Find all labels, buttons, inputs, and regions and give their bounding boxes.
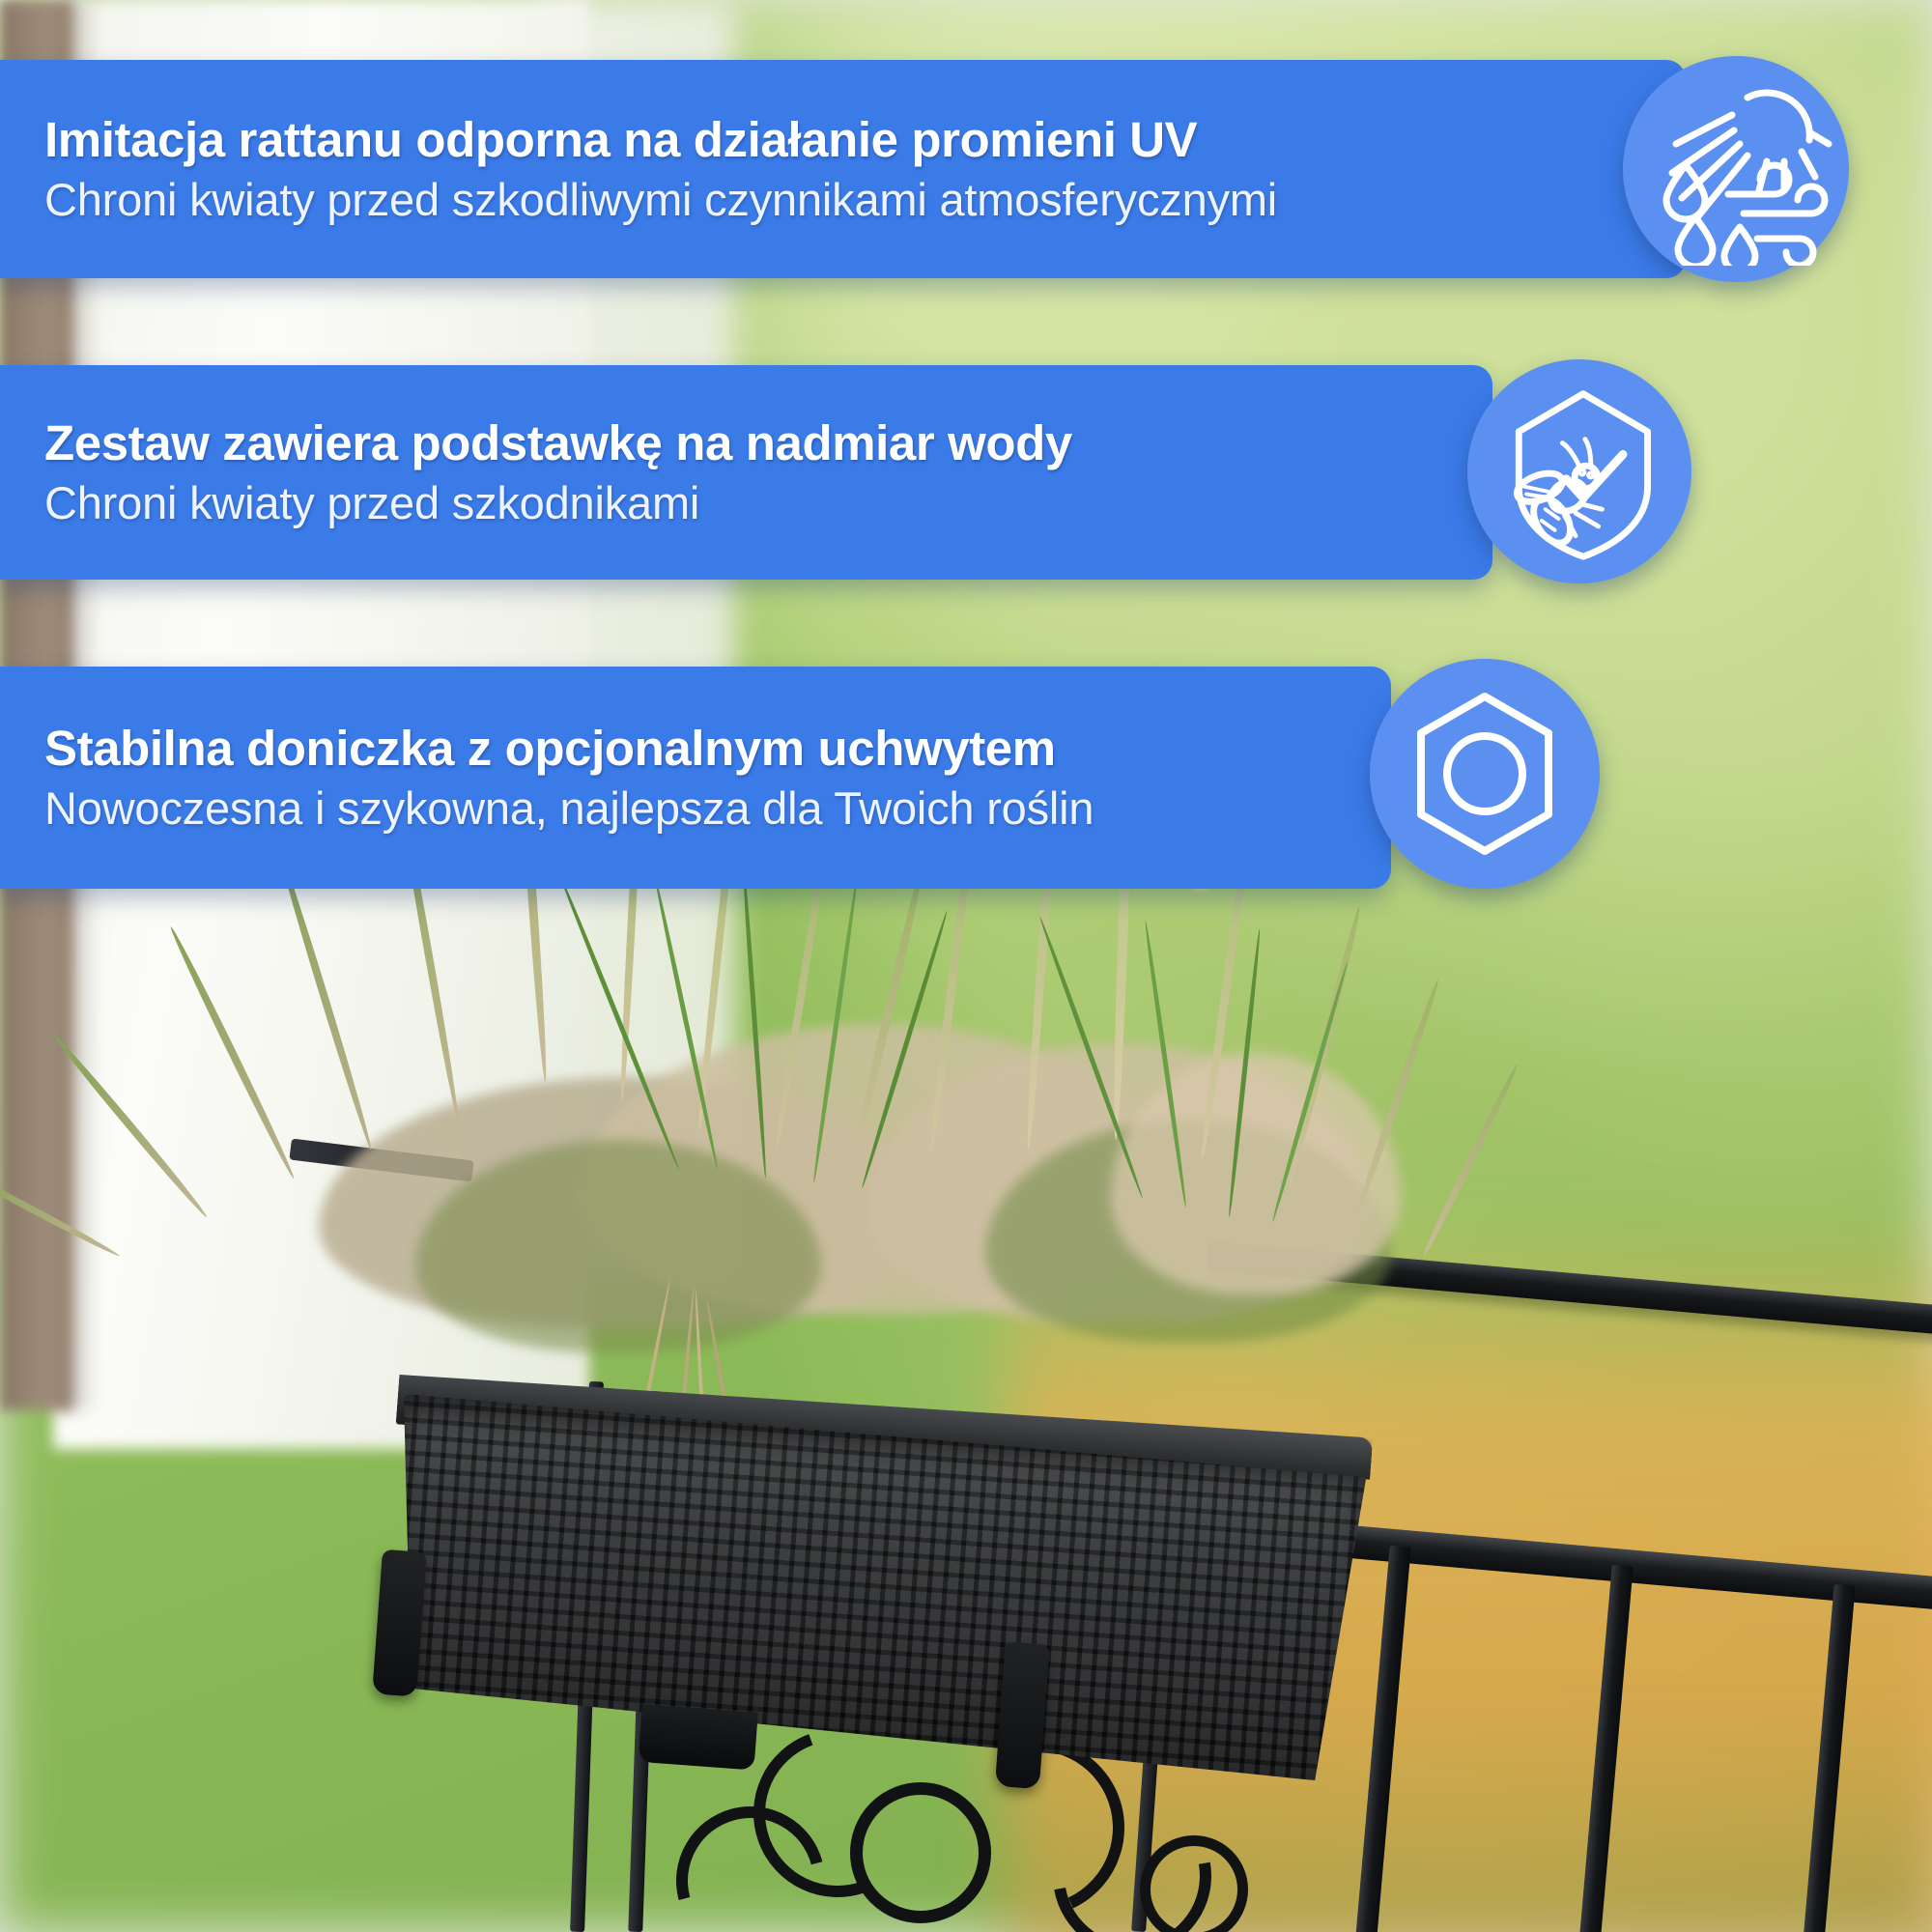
feature-text-block: Zestaw zawiera podstawkę na nadmiar wody… [0, 416, 1492, 529]
feature-subtitle: Nowoczesna i szykowna, najlepsza dla Two… [44, 783, 1366, 835]
feature-subtitle: Chroni kwiaty przed szkodliwymi czynnika… [44, 175, 1661, 226]
feature-title: Stabilna doniczka z opcjonalnym uchwytem [44, 722, 1366, 775]
feature-banner-uv-resistance: Imitacja rattanu odporna na działanie pr… [0, 60, 1686, 278]
planter-drip-tray [639, 1704, 758, 1771]
feature-text-block: Stabilna doniczka z opcjonalnym uchwytem… [0, 722, 1391, 835]
product-infographic: Imitacja rattanu odporna na działanie pr… [0, 0, 1932, 1932]
feature-text-block: Imitacja rattanu odporna na działanie pr… [0, 113, 1686, 226]
weather-sun-rain-wind-icon [1623, 56, 1849, 282]
hexagon-nut-icon [1370, 659, 1600, 889]
planter-hook-right [995, 1641, 1050, 1789]
feature-title: Imitacja rattanu odporna na działanie pr… [44, 113, 1661, 166]
feature-banner-stable-holder: Stabilna doniczka z opcjonalnym uchwytem… [0, 667, 1391, 889]
product-photo [0, 0, 1932, 1932]
feature-subtitle: Chroni kwiaty przed szkodnikami [44, 478, 1467, 529]
shield-check-insect-icon [1467, 359, 1691, 583]
feature-banner-water-tray: Zestaw zawiera podstawkę na nadmiar wody… [0, 365, 1492, 580]
feature-title: Zestaw zawiera podstawkę na nadmiar wody [44, 416, 1467, 469]
planter-box [378, 1367, 1369, 1813]
